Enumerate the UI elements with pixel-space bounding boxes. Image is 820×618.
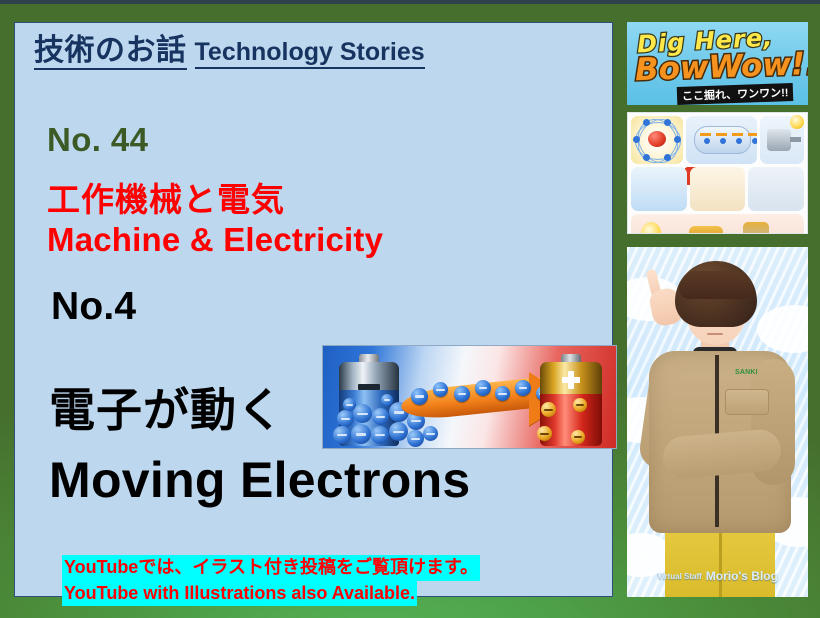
atom-electron-orbit-icon xyxy=(631,116,683,164)
panel-header: 技術のお話 Technology Stories xyxy=(34,33,425,70)
series-title-en: Machine & Electricity xyxy=(47,221,383,259)
logo-line-bowwow: BowWow!! xyxy=(634,46,808,88)
header-title-jp: 技術のお話 xyxy=(34,33,187,70)
technology-illustration-collage xyxy=(627,112,808,234)
youtube-note: YouTubeでは、イラスト付き投稿をご覧頂けます。 YouTube with … xyxy=(62,555,480,606)
youtube-note-jp: YouTubeでは、イラスト付き投稿をご覧頂けます。 xyxy=(62,555,480,581)
episode-title-en: Moving Electrons xyxy=(49,455,471,505)
series-number: No. 44 xyxy=(47,121,148,159)
youtube-note-en: YouTube with Illustrations also Availabl… xyxy=(62,581,417,607)
dig-here-bowwow-logo: Dig Here, BowWow!! ここ掘れ、ワンワン!! xyxy=(627,22,808,105)
header-title-en: Technology Stories xyxy=(195,37,425,69)
water-flow-analogy-icon xyxy=(631,167,687,211)
character-caption-prefix: Virtual Staff xyxy=(657,572,702,581)
character-caption-name: Morio's Blog xyxy=(706,569,778,583)
conductor-electron-flow-icon xyxy=(686,116,757,164)
character-jacket-pocket xyxy=(725,389,769,415)
light-bulb-icon xyxy=(790,115,804,129)
character-caption: Virtual StaffMorio's Blog xyxy=(627,569,808,583)
content-panel: 技術のお話 Technology Stories No. 44 工作機械と電気 … xyxy=(14,22,613,597)
bulb-heater-robot-icon xyxy=(631,214,804,234)
episode-title-jp: 電子が動く xyxy=(49,387,284,433)
slide-root: 技術のお話 Technology Stories No. 44 工作機械と電気 … xyxy=(0,0,820,618)
logo-line-jp: ここ掘れ、ワンワン!! xyxy=(677,83,794,105)
robot-arm-cnc-machine-icon xyxy=(690,167,746,211)
series-title-jp: 工作機械と電気 xyxy=(47,173,285,221)
character-pants-seam xyxy=(719,525,722,597)
episode-number: No.4 xyxy=(51,285,136,329)
virtual-staff-morio-illustration: SANKI Virtual StaffMorio's Blog xyxy=(627,247,808,597)
battery-electron-flow-illustration xyxy=(322,345,617,449)
uniform-logo: SANKI xyxy=(735,369,758,376)
motor-linear-actuator-icon xyxy=(748,167,804,211)
character-bangs xyxy=(679,271,753,299)
top-edge-strip xyxy=(0,0,820,4)
